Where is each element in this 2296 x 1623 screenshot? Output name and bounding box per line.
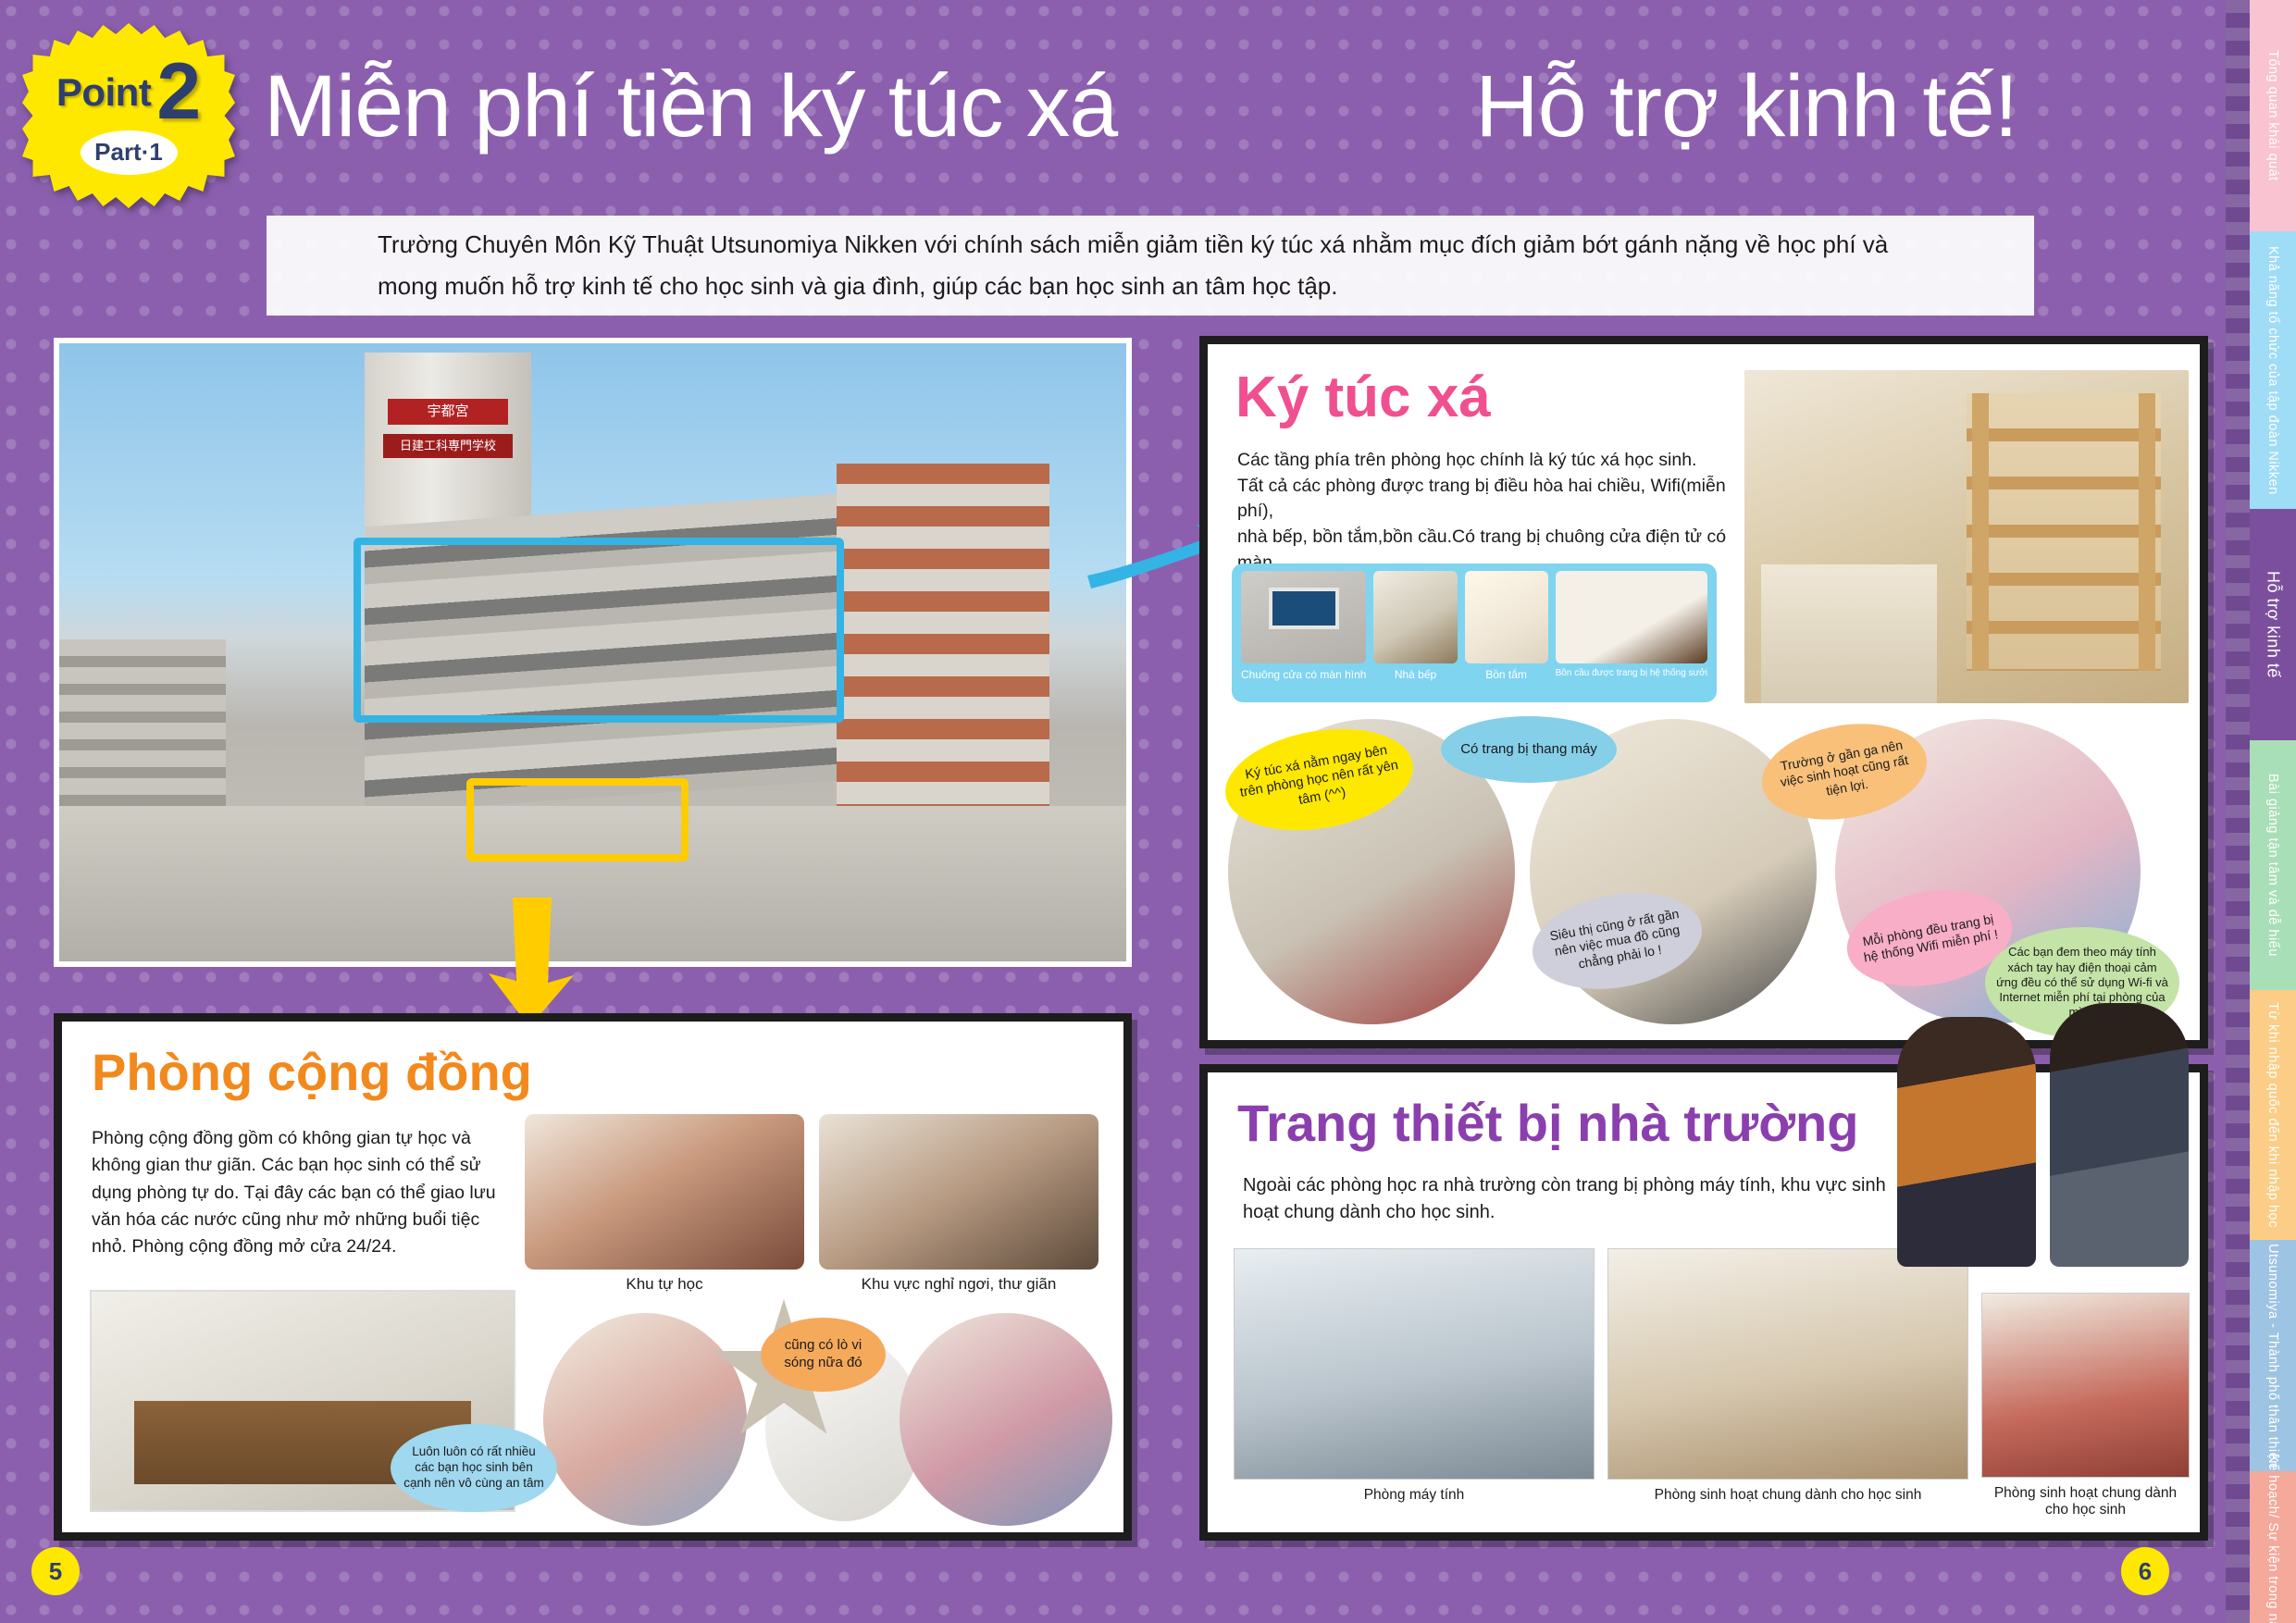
page-title: Miễn phí tiền ký túc xá Hỗ trợ kinh tế! <box>264 37 2110 176</box>
room-kitchenette <box>1761 564 1937 703</box>
student-lounge-photo-1 <box>1607 1248 1968 1480</box>
thumb-caption-kitchen: Nhà bếp <box>1395 668 1436 681</box>
point-badge-content: Point2 Part·1 <box>22 56 235 174</box>
adjacent-building <box>837 464 1049 815</box>
facility-description: Ngoài các phòng học ra nhà trường còn tr… <box>1243 1172 1891 1226</box>
tower-sign-bottom: 日建工科専門学校 <box>383 434 513 458</box>
bathroom-photo <box>1465 571 1548 663</box>
tower-sign-top: 宇都宮 <box>388 399 508 425</box>
school-facility-panel: Trang thiết bị nhà trường Ngoài các phòn… <box>1199 1064 2208 1541</box>
point-badge: Point2 Part·1 <box>22 23 235 208</box>
community-room-description: Phòng cộng đồng gồm có không gian tự học… <box>92 1125 499 1260</box>
thumb-caption-bathroom: Bồn tắm <box>1485 668 1527 681</box>
thumb-caption-intercom: Chuông cửa có màn hình <box>1241 668 1366 681</box>
facility-cell-lounge-2: Phòng sinh hoạt chung dành cho học sinh <box>1981 1293 2190 1518</box>
cutout-person-right <box>2050 1003 2189 1267</box>
thumb-toilet: Bồn cầu được trang bị hệ thống sưởi <box>1556 571 1707 702</box>
student-lounge-photo-2 <box>1981 1293 2190 1478</box>
thumb-intercom: Chuông cửa có màn hình <box>1241 571 1366 702</box>
community-room-panel: Phòng cộng đồng Phòng cộng đồng gồm có k… <box>54 1013 1132 1541</box>
bunk-post-right <box>2139 393 2155 671</box>
dorm-room-photo <box>1744 370 2189 703</box>
dorm-bubble-2: Có trang bị thang máy <box>1441 716 1617 783</box>
relax-area-photo <box>819 1114 1098 1270</box>
brochure-page: Point2 Part·1 Miễn phí tiền ký túc xá Hỗ… <box>0 0 2296 1623</box>
kitchen-photo <box>1373 571 1457 663</box>
study-area-caption: Khu tự học <box>525 1275 804 1294</box>
tab-label-5: Utsunomiya - Thành phố thân thiện <box>2265 1244 2280 1468</box>
tab-bai-giang-tan-tam[interactable]: Bài giảng tận tâm và dễ hiểu <box>2250 740 2296 990</box>
relax-area-caption: Khu vực nghỉ ngơi, thư giãn <box>819 1275 1098 1294</box>
thumb-bathroom: Bồn tắm <box>1465 571 1548 702</box>
yellow-arrow-icon <box>481 898 583 1027</box>
student-lounge-caption-1: Phòng sinh hoạt chung dành cho học sinh <box>1607 1487 1968 1504</box>
page-spread: Point2 Part·1 Miễn phí tiền ký túc xá Hỗ… <box>0 0 2296 1623</box>
toilet-photo <box>1556 571 1707 663</box>
tab-ke-hoach-su-kien[interactable]: Kế hoạch/ Sự kiện trong năm <box>2250 1471 2296 1623</box>
intercom-photo <box>1241 571 1366 663</box>
cutout-person-left <box>1897 1017 2036 1267</box>
computer-room-photo <box>1234 1248 1595 1480</box>
dorm-bubble-4-text: Trường ở gần ga nên việc sinh hoạt cũng … <box>1769 736 1920 809</box>
facility-photo-row: Phòng máy tính Phòng sinh hoạt chung dàn… <box>1234 1248 2187 1517</box>
dorm-amenity-thumbnails: Chuông cửa có màn hình Nhà bếp Bồn tắm B… <box>1232 564 1717 702</box>
headline-right: Hỗ trợ kinh tế! <box>1475 56 2110 157</box>
tab-utsunomiya-thanh-pho[interactable]: Utsunomiya - Thành phố thân thiện <box>2250 1240 2296 1471</box>
tab-tong-quan-khai-quat[interactable]: Tổng quan khái quát <box>2250 0 2296 231</box>
tab-label-1: Khả năng tổ chức của tập đoàn Nikken <box>2265 246 2280 495</box>
community-study-cell: Khu tự học <box>525 1114 804 1299</box>
tab-label-2: Hỗ trợ kinh tế <box>2264 571 2283 678</box>
community-bubble-students: Luôn luôn có rất nhiều các bạn học sinh … <box>391 1424 557 1512</box>
dormitory-title: Ký túc xá <box>1235 365 1491 430</box>
section-tab-rail: Tổng quan khái quát Khả năng tổ chức của… <box>2226 0 2296 1623</box>
tab-label-3: Bài giảng tận tâm và dễ hiểu <box>2265 774 2280 957</box>
bunk-bed <box>1967 393 2161 671</box>
dorm-bubble-1-text: Ký túc xá nằm ngay bên trên phòng học nê… <box>1233 740 1407 819</box>
headline-left: Miễn phí tiền ký túc xá <box>264 56 1117 157</box>
community-relax-cell: Khu vực nghỉ ngơi, thư giãn <box>819 1114 1098 1299</box>
thumb-kitchen: Nhà bếp <box>1373 571 1457 702</box>
dorm-bubble-2-text: Có trang bị thang máy <box>1460 741 1597 759</box>
tab-label-4: Từ khi nhập quốc đến khi nhập học <box>2265 1002 2280 1228</box>
dorm-bubble-3-text: Siêu thị cũng ở rất gần nên việc mua đồ … <box>1540 904 1695 978</box>
community-students-photo-1 <box>543 1313 747 1526</box>
intro-text: Trường Chuyên Môn Kỹ Thuật Utsunomiya Ni… <box>378 224 1923 308</box>
community-bubble-students-text: Luôn luôn có rất nhiều các bạn học sinh … <box>402 1444 546 1492</box>
tab-kha-nang-to-chuc[interactable]: Khả năng tổ chức của tập đoàn Nikken <box>2250 231 2296 509</box>
point-label: Point <box>56 70 151 115</box>
dorm-line-1: Các tầng phía trên phòng học chính là ký… <box>1237 448 1737 474</box>
tab-label-0: Tổng quan khái quát <box>2265 50 2280 181</box>
building-photo: 宇都宮 日建工科専門学校 <box>54 338 1132 967</box>
tab-label-6: Kế hoạch/ Sự kiện trong năm <box>2265 1454 2280 1623</box>
classroom-highlight-box <box>466 778 689 861</box>
community-bubble-microwave-text: cũng có lò vi sóng nữa đó <box>772 1337 875 1372</box>
facility-cell-lounge-1: Phòng sinh hoạt chung dành cho học sinh <box>1607 1248 1968 1504</box>
community-bubble-microwave: cũng có lò vi sóng nữa đó <box>761 1318 886 1392</box>
computer-room-caption: Phòng máy tính <box>1234 1487 1595 1504</box>
dorm-highlight-box <box>354 538 844 723</box>
community-students-photo-2 <box>900 1313 1112 1526</box>
rail-dot-pattern <box>2226 0 2250 1623</box>
tab-ho-tro-kinh-te[interactable]: Hỗ trợ kinh tế <box>2250 509 2296 740</box>
page-number-right: 6 <box>2121 1547 2169 1595</box>
dorm-bubble-5-text: Mỗi phòng đều trang bị hệ thống Wifi miễ… <box>1855 910 2004 967</box>
facility-title: Trang thiết bị nhà trường <box>1237 1093 1858 1153</box>
study-area-photo <box>525 1114 804 1270</box>
point-number: 2 <box>156 56 201 128</box>
page-number-left: 5 <box>31 1547 80 1595</box>
facility-cell-pc: Phòng máy tính <box>1234 1248 1595 1504</box>
thumb-caption-toilet: Bồn cầu được trang bị hệ thống sưởi <box>1556 668 1707 678</box>
bunk-post-left <box>1972 393 1989 671</box>
community-photo-row: Khu tự học Khu vực nghỉ ngơi, thư giãn <box>525 1114 1098 1299</box>
student-lounge-caption-2: Phòng sinh hoạt chung dành cho học sinh <box>1981 1485 2190 1518</box>
part-label: Part·1 <box>81 130 178 175</box>
dormitory-panel: Ký túc xá Các tầng phía trên phòng học c… <box>1199 336 2208 1048</box>
community-room-title: Phòng cộng đồng <box>92 1042 532 1102</box>
tab-tu-khi-nhap-quoc[interactable]: Từ khi nhập quốc đến khi nhập học <box>2250 990 2296 1240</box>
intro-strip: Trường Chuyên Môn Kỹ Thuật Utsunomiya Ni… <box>267 216 2034 316</box>
dorm-line-2: Tất cả các phòng được trang bị điều hòa … <box>1237 474 1737 525</box>
